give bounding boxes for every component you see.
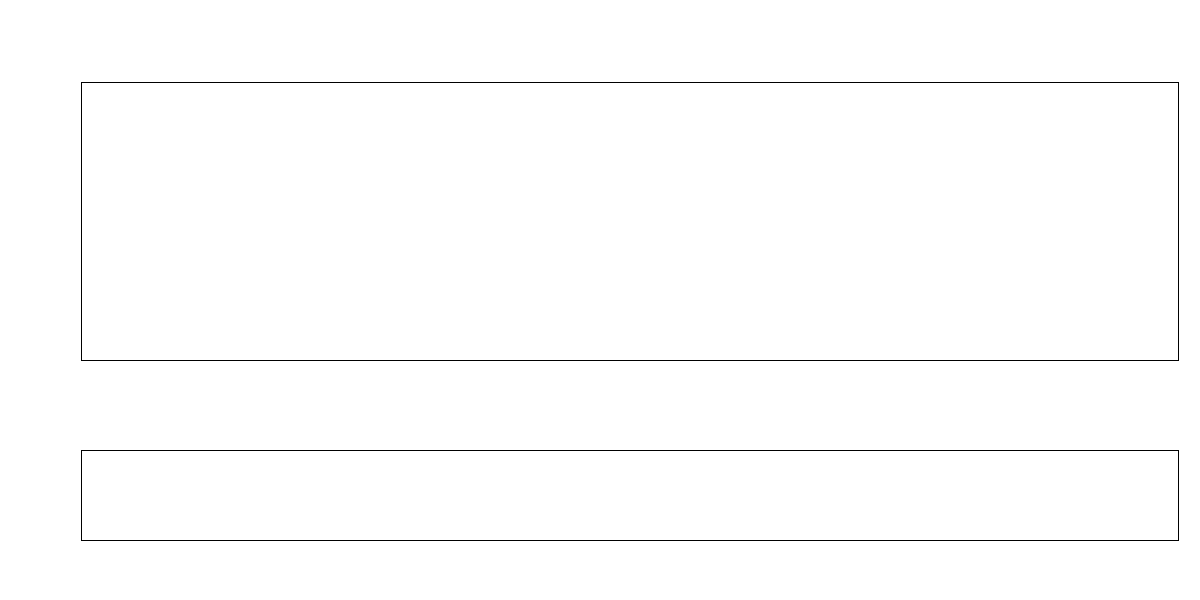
price-wave-chart-plot-area	[81, 82, 1179, 361]
buy-sell-chart-plot-area	[81, 450, 1179, 541]
